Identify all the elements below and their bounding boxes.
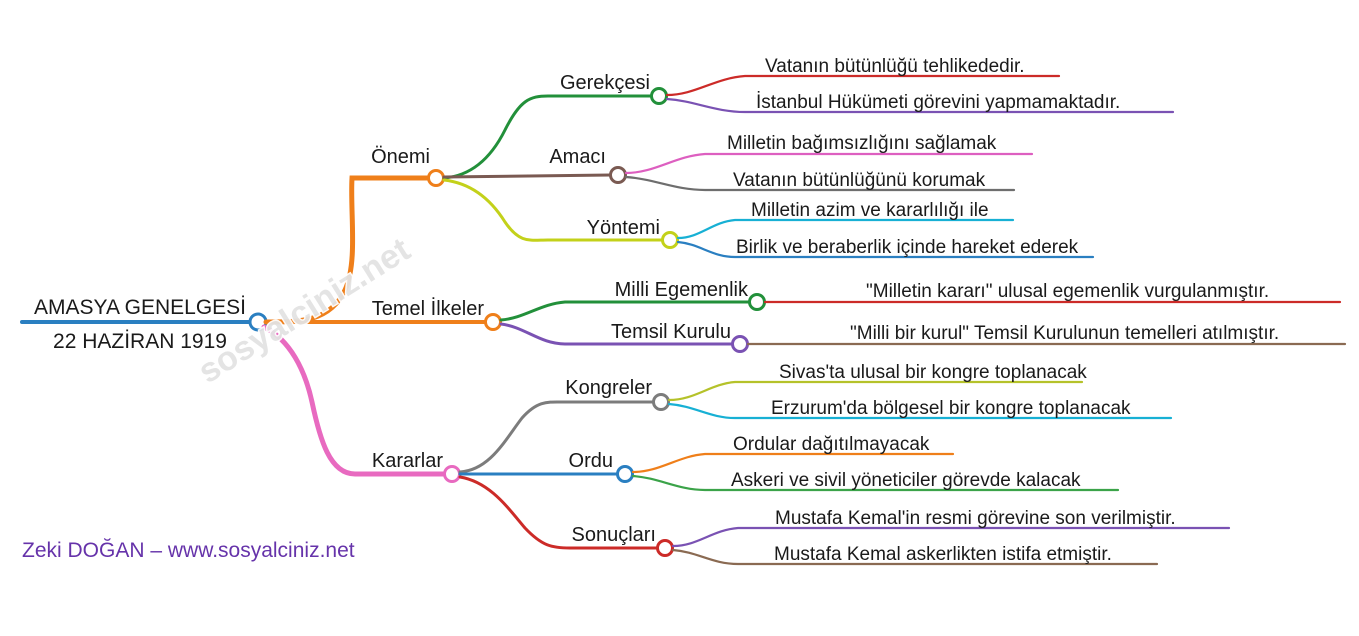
leaf-text-gerekcesi-1: Vatanın bütünlüğü tehlikededir. (765, 56, 1025, 77)
branch-kararlar-label: Kararlar (372, 450, 443, 472)
leaf-text-gerekcesi-2: İstanbul Hükümeti görevini yapmamaktadır… (756, 92, 1120, 113)
root-title: AMASYA GENELGESİ (34, 296, 246, 319)
leaf-text-yontemi-1: Milletin azim ve kararlılığı ile (751, 200, 989, 221)
mindmap-canvas: AMASYA GENELGESİ 22 HAZİRAN 1919 Önemi G… (0, 0, 1359, 636)
leaf-text-ordu-2: Askeri ve sivil yöneticiler görevde kala… (731, 470, 1081, 491)
sub-kongreler-label: Kongreler (565, 377, 652, 399)
leaf-text-amaci-2: Vatanın bütünlüğünü korumak (733, 170, 986, 191)
sub-temsil-kurulu-label: Temsil Kurulu (611, 321, 731, 343)
leaf-text-temsil-kurulu-1: "Milli bir kurul" Temsil Kurulunun temel… (850, 323, 1279, 344)
sub-milli-egemenlik-node[interactable] (750, 295, 765, 310)
sub-temsil-kurulu-group[interactable]: Temsil Kurulu "Milli bir kurul" Temsil K… (501, 321, 1345, 352)
sub-kongreler-node[interactable] (654, 395, 669, 410)
sub-amaci-node[interactable] (611, 168, 626, 183)
sub-amaci-group[interactable]: Amacı Milletin bağımsızlığını sağlamak V… (444, 133, 1032, 191)
sub-amaci-line (444, 175, 611, 177)
sub-yontemi-label: Yöntemi (587, 217, 660, 239)
branch-kararlar-node[interactable] (445, 467, 460, 482)
leaf-text-amaci-1: Milletin bağımsızlığını sağlamak (727, 133, 997, 154)
root-date: 22 HAZİRAN 1919 (53, 330, 227, 353)
sub-ordu-group[interactable]: Ordu Ordular dağıtılmayacak Askeri ve si… (460, 434, 1118, 491)
leaf-text-sonuclari-1: Mustafa Kemal'in resmi görevine son veri… (775, 508, 1176, 529)
sub-gerekcesi-node[interactable] (652, 89, 667, 104)
sub-sonuclari-label: Sonuçları (572, 524, 657, 546)
branch-onemi-label: Önemi (371, 146, 430, 168)
branch-temel-ilkeler-label: Temel İlkeler (372, 297, 485, 320)
sub-milli-egemenlik-line (501, 302, 752, 320)
sub-kongreler-group[interactable]: Kongreler Sivas'ta ulusal bir kongre top… (460, 362, 1171, 472)
leaf-text-kongreler-1: Sivas'ta ulusal bir kongre toplanacak (779, 362, 1087, 383)
sub-sonuclari-node[interactable] (658, 541, 673, 556)
branch-onemi-node[interactable] (429, 171, 444, 186)
leaf-line-yontemi-1 (678, 220, 1013, 238)
sub-milli-egemenlik-group[interactable]: Milli Egemenlik "Milletin kararı" ulusal… (501, 279, 1340, 320)
sub-ordu-node[interactable] (618, 467, 633, 482)
sub-yontemi-group[interactable]: Yöntemi Milletin azim ve kararlılığı ile… (444, 180, 1093, 258)
sub-temsil-kurulu-node[interactable] (733, 337, 748, 352)
sub-yontemi-node[interactable] (663, 233, 678, 248)
leaf-text-yontemi-2: Birlik ve beraberlik içinde hareket eder… (736, 237, 1079, 258)
mindmap-svg: AMASYA GENELGESİ 22 HAZİRAN 1919 Önemi G… (0, 0, 1359, 636)
credit-text: Zeki DOĞAN – www.sosyalciniz.net (22, 539, 355, 562)
leaf-text-ordu-1: Ordular dağıtılmayacak (733, 434, 930, 455)
sub-kongreler-line (460, 402, 656, 472)
sub-amaci-label: Amacı (549, 146, 606, 168)
leaf-text-milli-egemenlik-1: "Milletin kararı" ulusal egemenlik vurgu… (866, 281, 1269, 302)
sub-gerekcesi-label: Gerekçesi (560, 72, 650, 94)
leaf-text-sonuclari-2: Mustafa Kemal askerlikten istifa etmişti… (774, 544, 1112, 565)
branch-temel-ilkeler-node[interactable] (486, 315, 501, 330)
sub-ordu-label: Ordu (569, 450, 613, 472)
sub-milli-egemenlik-label: Milli Egemenlik (615, 279, 749, 301)
leaf-text-kongreler-2: Erzurum'da bölgesel bir kongre toplanaca… (771, 398, 1131, 419)
branch-kararlar-group[interactable]: Kararlar (264, 327, 460, 482)
